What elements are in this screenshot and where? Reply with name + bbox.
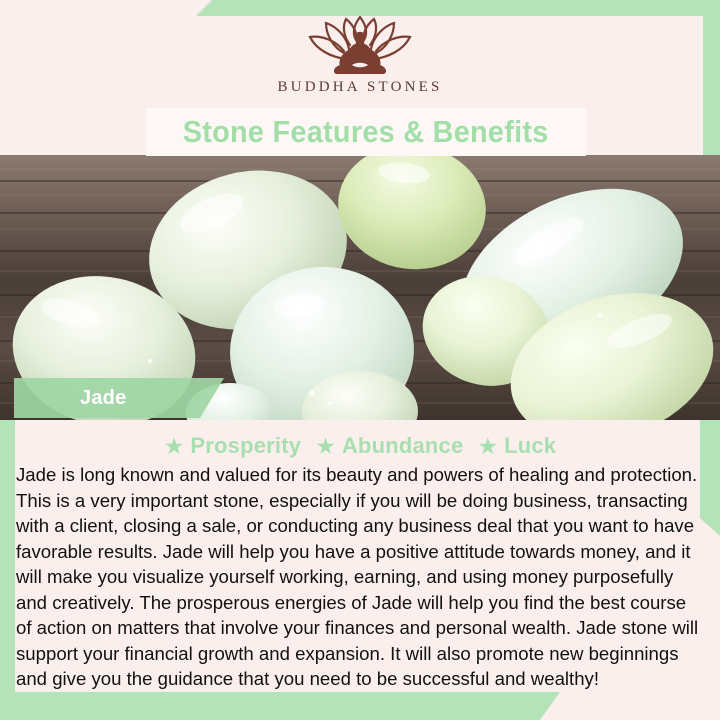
left-body-accent bbox=[0, 418, 15, 720]
star-icon: ★ bbox=[315, 435, 336, 458]
benefit-item: ★ Luck bbox=[477, 433, 556, 459]
star-icon: ★ bbox=[164, 435, 185, 458]
benefit-item: ★ Abundance bbox=[315, 433, 463, 459]
benefit-item: ★ Prosperity bbox=[164, 433, 301, 459]
benefit-label: Abundance bbox=[342, 433, 464, 459]
stone-name-chip: Jade bbox=[14, 378, 224, 418]
brand-name: BUDDHA STONES bbox=[277, 79, 442, 96]
stone-description: Jade is long known and valued for its be… bbox=[16, 462, 702, 692]
benefits-row: ★ Prosperity ★ Abundance ★ Luck bbox=[0, 430, 720, 462]
benefit-label: Prosperity bbox=[190, 433, 301, 459]
stone-name: Jade bbox=[14, 387, 126, 410]
bottom-accent-band bbox=[0, 692, 560, 720]
benefit-label: Luck bbox=[504, 433, 556, 459]
star-icon: ★ bbox=[477, 435, 498, 458]
page-title: Stone Features & Benefits bbox=[183, 114, 549, 150]
brand-header: BUDDHA STONES bbox=[0, 0, 720, 110]
title-band: Stone Features & Benefits bbox=[146, 108, 586, 156]
lotus-meditation-icon bbox=[300, 15, 420, 77]
